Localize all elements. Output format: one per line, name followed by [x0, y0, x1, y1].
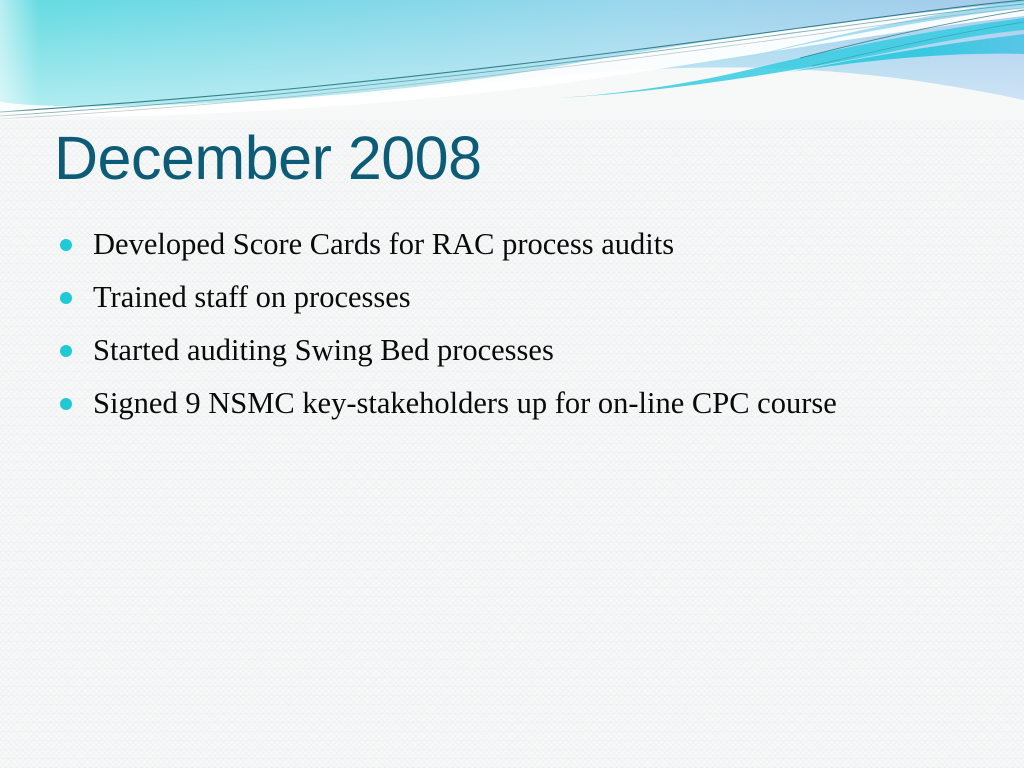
- slide-title: December 2008: [54, 126, 482, 190]
- bullet-dot-icon: [60, 239, 72, 251]
- bullet-dot-icon: [60, 398, 72, 410]
- slide-bullet-list: Developed Score Cards for RAC process au…: [56, 222, 936, 434]
- presentation-slide: December 2008 Developed Score Cards for …: [0, 0, 1024, 768]
- flow-wave-banner: [0, 0, 1024, 120]
- list-item: Signed 9 NSMC key-stakeholders up for on…: [56, 381, 936, 426]
- list-item: Developed Score Cards for RAC process au…: [56, 222, 936, 267]
- list-item-text: Started auditing Swing Bed processes: [93, 333, 554, 367]
- list-item: Trained staff on processes: [56, 275, 936, 320]
- list-item-text: Signed 9 NSMC key-stakeholders up for on…: [93, 386, 837, 420]
- bullet-dot-icon: [60, 292, 72, 304]
- list-item-text: Trained staff on processes: [93, 280, 411, 314]
- bullet-dot-icon: [60, 345, 72, 357]
- list-item-text: Developed Score Cards for RAC process au…: [93, 227, 674, 261]
- list-item: Started auditing Swing Bed processes: [56, 328, 936, 373]
